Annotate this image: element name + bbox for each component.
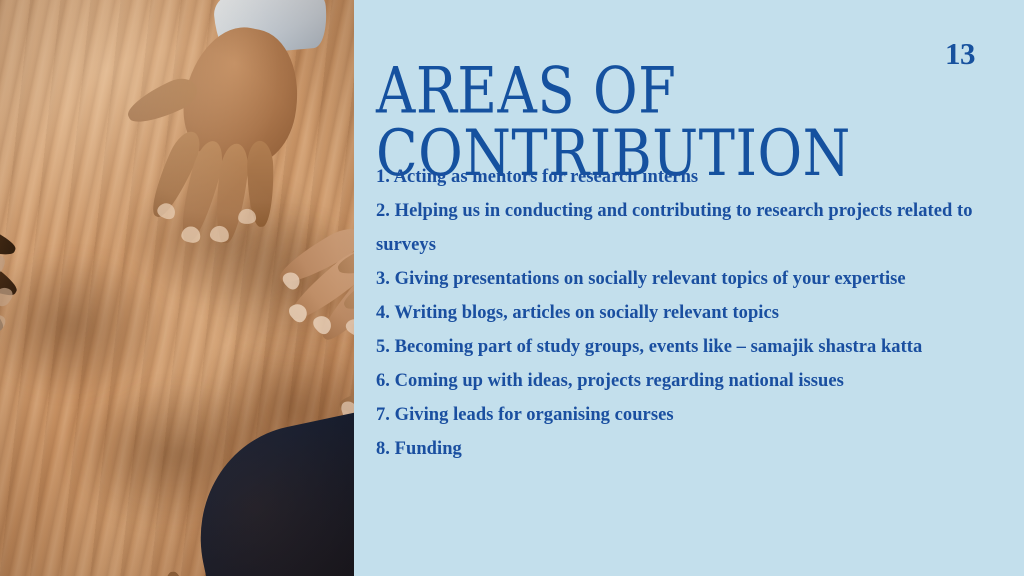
list-item: 6. Coming up with ideas, projects regard… bbox=[376, 364, 1016, 398]
presentation-slide: 13 AREAS OF CONTRIBUTION 1. Acting as me… bbox=[0, 0, 1024, 576]
hands-together-photo bbox=[0, 0, 354, 576]
list-item: 5. Becoming part of study groups, events… bbox=[376, 330, 1016, 364]
list-item: 7. Giving leads for organising courses bbox=[376, 398, 1016, 432]
photo-lighting-overlay bbox=[0, 0, 354, 576]
list-item: 8. Funding bbox=[376, 432, 1016, 466]
page-title-line-1: AREAS OF bbox=[376, 59, 930, 122]
list-item: 2. Helping us in conducting and contribu… bbox=[376, 194, 1016, 262]
contribution-areas-list: 1. Acting as mentors for research intern… bbox=[376, 160, 1016, 466]
slide-content-area: 13 AREAS OF CONTRIBUTION 1. Acting as me… bbox=[354, 0, 1024, 576]
list-item: 3. Giving presentations on socially rele… bbox=[376, 262, 1016, 296]
page-number: 13 bbox=[945, 38, 975, 69]
list-item: 4. Writing blogs, articles on socially r… bbox=[376, 296, 1016, 330]
list-item: 1. Acting as mentors for research intern… bbox=[376, 160, 1016, 194]
